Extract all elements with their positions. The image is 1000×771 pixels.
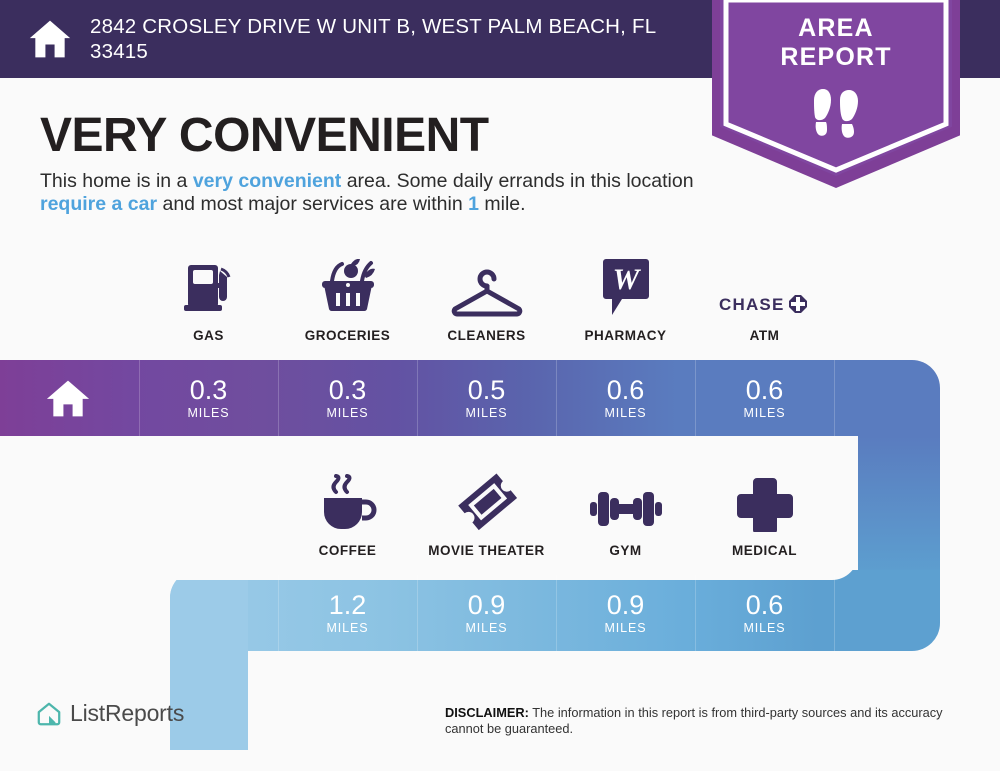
distance-cell-groceries: 0.3 MILES — [278, 360, 417, 436]
listreports-logo[interactable]: ListReports — [36, 700, 184, 727]
home-icon — [28, 17, 72, 61]
svg-text:W: W — [612, 263, 641, 296]
footprints-icon — [806, 88, 866, 140]
distance-value: 0.9 — [607, 591, 645, 620]
service-cell-atm[interactable]: CHASE ATM — [695, 255, 834, 343]
service-cell-gym[interactable]: GYM — [556, 470, 695, 558]
service-cell-groceries[interactable]: GROCERIES — [278, 255, 417, 343]
distance-unit: MILES — [604, 406, 646, 420]
service-icon-row-1: GAS GROCERIES — [139, 255, 834, 343]
service-cell-medical[interactable]: MEDICAL — [695, 470, 834, 558]
distance-cell-pharmacy: 0.6 MILES — [556, 360, 695, 436]
service-label: ATM — [750, 328, 780, 343]
page-title: VERY CONVENIENT — [40, 108, 489, 163]
medical-cross-icon — [737, 470, 793, 532]
summary-highlight-3: 1 — [468, 193, 479, 215]
coffee-cup-icon — [318, 470, 378, 532]
distance-value: 0.5 — [468, 376, 506, 405]
summary-text: This home is in a very convenient area. … — [40, 170, 720, 216]
grocery-basket-icon — [318, 255, 378, 317]
svg-text:CHASE: CHASE — [719, 295, 785, 314]
distance-value: 0.3 — [329, 376, 367, 405]
cell-separator — [834, 360, 835, 436]
cell-separator — [695, 575, 696, 651]
dumbbell-icon — [590, 470, 662, 532]
listreports-wordmark: ListReports — [70, 700, 184, 727]
distance-row-1: 0.3 MILES 0.3 MILES 0.5 MILES 0.6 MILES … — [139, 360, 834, 436]
distance-cell-atm: 0.6 MILES — [695, 360, 834, 436]
disclaimer-label: DISCLAIMER: — [445, 705, 529, 720]
distance-value: 0.6 — [746, 591, 784, 620]
service-cell-movie-theater[interactable]: MOVIE THEATER — [417, 470, 556, 558]
service-cell-coffee[interactable]: COFFEE — [278, 470, 417, 558]
service-cell-gas[interactable]: GAS — [139, 255, 278, 343]
cell-separator — [556, 575, 557, 651]
service-cell-pharmacy[interactable]: W PHARMACY — [556, 255, 695, 343]
service-label: MEDICAL — [732, 543, 797, 558]
movie-ticket-icon — [456, 470, 518, 532]
cell-separator — [417, 360, 418, 436]
summary-part-1: This home is in a — [40, 170, 193, 192]
distance-unit: MILES — [465, 621, 507, 635]
service-icon-row-2: COFFEE MOVIE THEATER — [278, 470, 834, 558]
service-label: GAS — [193, 328, 224, 343]
distance-unit: MILES — [187, 406, 229, 420]
distance-value: 0.6 — [607, 376, 645, 405]
gas-pump-icon — [180, 255, 238, 317]
distance-value: 0.3 — [190, 376, 228, 405]
distance-value: 0.9 — [468, 591, 506, 620]
cell-separator — [278, 360, 279, 436]
distance-unit: MILES — [465, 406, 507, 420]
service-cell-cleaners[interactable]: CLEANERS — [417, 255, 556, 343]
disclaimer-text: DISCLAIMER: The information in this repo… — [445, 705, 975, 737]
service-label: PHARMACY — [584, 328, 666, 343]
chase-logo-icon: CHASE — [719, 255, 811, 317]
service-label: MOVIE THEATER — [428, 543, 545, 558]
cell-separator — [834, 575, 835, 651]
distance-cell-gym: 0.9 MILES — [556, 575, 695, 651]
distance-unit: MILES — [604, 621, 646, 635]
summary-highlight-1: very convenient — [193, 170, 341, 192]
listreports-house-icon — [36, 701, 62, 727]
cell-separator — [695, 360, 696, 436]
summary-highlight-2: require a car — [40, 193, 157, 215]
distance-unit: MILES — [326, 621, 368, 635]
badge-line-2: REPORT — [712, 43, 960, 72]
service-label: GROCERIES — [305, 328, 391, 343]
service-label: COFFEE — [319, 543, 377, 558]
cell-separator — [139, 360, 140, 436]
area-report-badge: AREA REPORT — [712, 0, 960, 188]
distance-cell-coffee: 1.2 MILES — [278, 575, 417, 651]
home-marker-icon — [46, 376, 90, 420]
walgreens-w-icon: W — [598, 255, 654, 317]
cell-separator — [417, 575, 418, 651]
badge-line-1: AREA — [712, 14, 960, 43]
distance-value: 1.2 — [329, 591, 367, 620]
distance-unit: MILES — [326, 406, 368, 420]
distance-value: 0.6 — [746, 376, 784, 405]
distance-cell-cleaners: 0.5 MILES — [417, 360, 556, 436]
summary-part-2: area. Some daily errands in this locatio… — [341, 170, 693, 192]
badge-title: AREA REPORT — [712, 14, 960, 72]
distance-cell-movie-theater: 0.9 MILES — [417, 575, 556, 651]
cell-separator — [278, 575, 279, 651]
distance-cell-gas: 0.3 MILES — [139, 360, 278, 436]
service-label: GYM — [609, 543, 641, 558]
clothes-hanger-icon — [449, 255, 525, 317]
distance-unit: MILES — [743, 621, 785, 635]
distance-unit: MILES — [743, 406, 785, 420]
distance-cell-medical: 0.6 MILES — [695, 575, 834, 651]
cell-separator — [556, 360, 557, 436]
service-label: CLEANERS — [447, 328, 525, 343]
property-address: 2842 CROSLEY DRIVE W UNIT B, WEST PALM B… — [90, 14, 680, 64]
summary-part-3: and most major services are within — [157, 193, 468, 215]
summary-part-4: mile. — [479, 193, 526, 215]
